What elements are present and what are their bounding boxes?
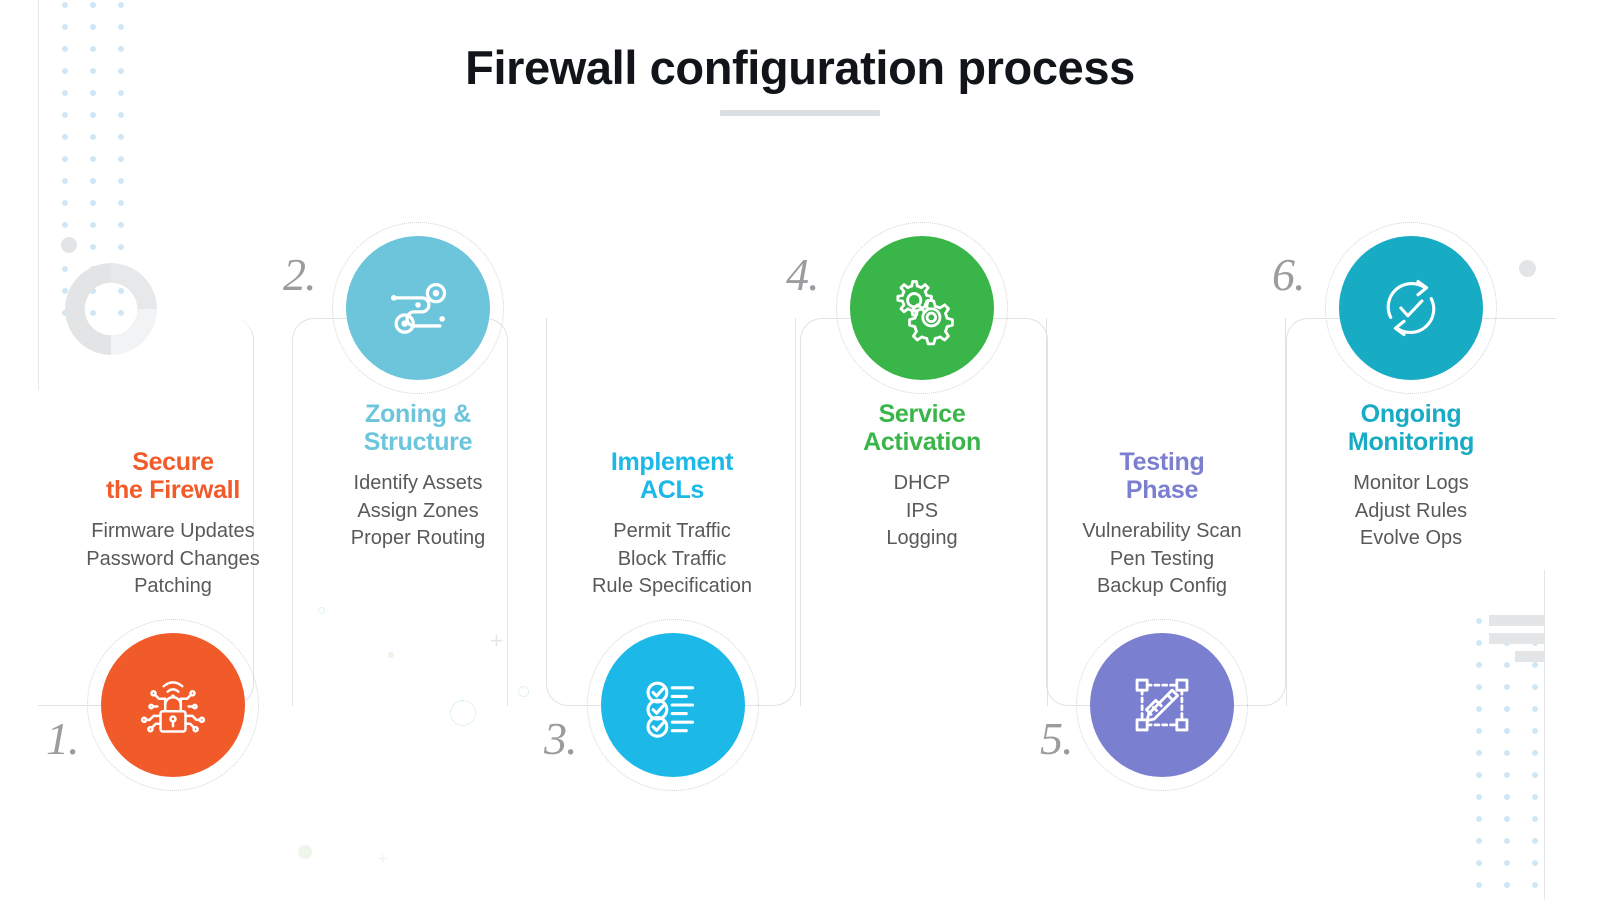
list-item: Firmware Updates <box>33 518 313 546</box>
step-title-3: Implement ACLs <box>532 448 812 504</box>
step-icon-badge-5[interactable] <box>1090 633 1234 777</box>
gears-icon <box>883 269 961 347</box>
list-item: Pen Testing <box>1022 546 1302 574</box>
gray-circle-decoration-right <box>1519 260 1536 277</box>
page-title: Firewall configuration process <box>0 40 1600 95</box>
step-title-2: Zoning & Structure <box>278 400 558 456</box>
soft-dot-decoration-2 <box>298 845 312 859</box>
step-number-3: 3. <box>544 712 577 765</box>
step-card-2: Zoning & Structure Identify Assets Assig… <box>278 400 558 553</box>
step-card-5: Testing Phase Vulnerability Scan Pen Tes… <box>1022 448 1302 601</box>
step-icon-badge-4[interactable] <box>850 236 994 380</box>
list-item: Backup Config <box>1022 573 1302 601</box>
ring-decoration-2 <box>518 686 529 697</box>
step-number-2: 2. <box>283 248 316 301</box>
network-padlock-icon <box>134 666 212 744</box>
list-item: Permit Traffic <box>532 518 812 546</box>
list-item: Proper Routing <box>278 525 558 553</box>
step-card-6: Ongoing Monitoring Monitor Logs Adjust R… <box>1271 400 1551 553</box>
list-item: Identify Assets <box>278 470 558 498</box>
step-items-4: DHCP IPS Logging <box>782 470 1062 553</box>
step-card-3: Implement ACLs Permit Traffic Block Traf… <box>532 448 812 601</box>
list-item: Rule Specification <box>532 573 812 601</box>
step-items-1: Firmware Updates Password Changes Patchi… <box>33 518 313 601</box>
list-item: Patching <box>33 573 313 601</box>
step-number-6: 6. <box>1272 248 1305 301</box>
list-item: IPS <box>782 498 1062 526</box>
step-icon-badge-6[interactable] <box>1339 236 1483 380</box>
list-item: Logging <box>782 525 1062 553</box>
list-item: Password Changes <box>33 546 313 574</box>
checklist-icon <box>634 666 712 744</box>
step-number-1: 1. <box>46 712 79 765</box>
step-card-1: Secure the Firewall Firmware Updates Pas… <box>33 448 313 601</box>
list-item: Block Traffic <box>532 546 812 574</box>
step-icon-badge-3[interactable] <box>601 633 745 777</box>
list-item: DHCP <box>782 470 1062 498</box>
title-underline <box>720 110 880 116</box>
plus-decoration-2: + <box>378 850 388 867</box>
list-item: Assign Zones <box>278 498 558 526</box>
step-number-4: 4. <box>786 248 819 301</box>
list-item: Vulnerability Scan <box>1022 518 1302 546</box>
refresh-check-cycle-icon <box>1372 269 1450 347</box>
step-icon-badge-1[interactable] <box>101 633 245 777</box>
step-title-1: Secure the Firewall <box>33 448 313 504</box>
step-title-4: Service Activation <box>782 400 1062 456</box>
step-items-6: Monitor Logs Adjust Rules Evolve Ops <box>1271 470 1551 553</box>
step-icon-badge-2[interactable] <box>346 236 490 380</box>
step-items-5: Vulnerability Scan Pen Testing Backup Co… <box>1022 518 1302 601</box>
infographic-canvas: + + Firewall configuration process 1. Se… <box>0 0 1600 900</box>
list-item: Adjust Rules <box>1271 498 1551 526</box>
list-item: Evolve Ops <box>1271 525 1551 553</box>
step-items-3: Permit Traffic Block Traffic Rule Specif… <box>532 518 812 601</box>
network-topology-icon <box>379 269 457 347</box>
step-title-5: Testing Phase <box>1022 448 1302 504</box>
step-number-5: 5. <box>1040 712 1073 765</box>
step-title-6: Ongoing Monitoring <box>1271 400 1551 456</box>
design-ruler-pencil-icon <box>1123 666 1201 744</box>
step-items-2: Identify Assets Assign Zones Proper Rout… <box>278 470 558 553</box>
step-card-4: Service Activation DHCP IPS Logging <box>782 400 1062 553</box>
list-item: Monitor Logs <box>1271 470 1551 498</box>
